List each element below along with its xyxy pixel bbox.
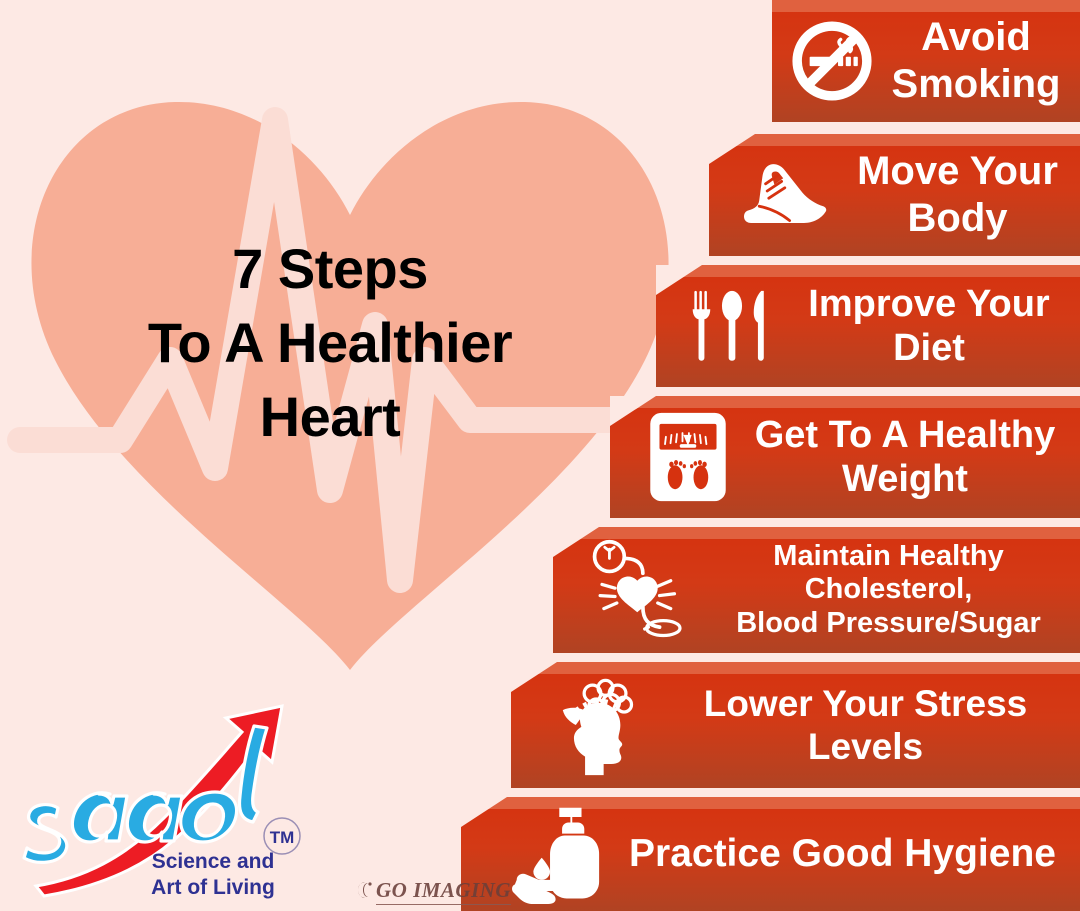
step-item-healthy-weight: Get To A Healthy Weight — [610, 396, 1080, 518]
logo-tagline-line: Art of Living — [118, 875, 308, 901]
step-label-line: Lower Your Stress — [659, 682, 1072, 725]
weighing-scale-icon — [638, 411, 738, 503]
step-label-healthy-weight: Get To A Healthy Weight — [738, 413, 1080, 502]
go-imaging-text: GO IMAGING — [376, 878, 511, 905]
go-imaging-mark-icon — [356, 879, 373, 904]
step-item-improve-your-diet: Improve Your Diet — [656, 265, 1080, 387]
logo-tagline-line: Science and — [118, 849, 308, 875]
blood-pressure-heart-icon — [577, 538, 705, 642]
step-tread — [772, 0, 1080, 12]
step-tread — [610, 396, 1080, 408]
step-label-line: Move Your — [843, 148, 1072, 195]
step-label-cholesterol-bp-sugar: Maintain Healthy Cholesterol, Blood Pres… — [705, 540, 1080, 639]
step-label-avoid-smoking: Avoid Smoking — [880, 14, 1080, 108]
step-label-line: Get To A Healthy — [738, 413, 1072, 457]
logo-tagline: Science and Art of Living — [118, 849, 308, 900]
step-label-line: Diet — [786, 326, 1072, 370]
step-label-line: Body — [843, 195, 1072, 242]
step-label-line: Blood Pressure/Sugar — [705, 607, 1072, 640]
svg-text:TM: TM — [270, 828, 295, 847]
step-label-line: Avoid — [880, 14, 1072, 61]
no-smoking-icon — [784, 18, 880, 104]
step-label-line: Weight — [738, 457, 1072, 501]
stressed-head-icon — [539, 673, 659, 777]
infographic-poster: 7 Steps To A Healthier Heart — [0, 0, 1080, 911]
step-label-line: Maintain Healthy — [705, 540, 1072, 573]
step-tread — [709, 134, 1080, 146]
step-item-lower-stress: Lower Your Stress Levels — [511, 662, 1080, 788]
step-item-avoid-smoking: Avoid Smoking — [772, 0, 1080, 122]
step-label-improve-your-diet: Improve Your Diet — [786, 282, 1080, 371]
go-imaging-watermark: GO IMAGING — [356, 878, 511, 905]
hand-wash-soap-icon — [507, 804, 619, 904]
step-label-line: Practice Good Hygiene — [629, 831, 1072, 877]
step-item-move-your-body: Move Your Body — [709, 134, 1080, 256]
step-label-line: Cholesterol, — [705, 573, 1072, 606]
cutlery-icon — [678, 284, 786, 368]
step-item-practice-good-hygiene: Practice Good Hygiene — [461, 797, 1080, 911]
step-label-move-your-body: Move Your Body — [843, 148, 1080, 242]
step-tread — [656, 265, 1080, 277]
step-label-line: Smoking — [880, 61, 1072, 108]
step-label-line: Levels — [659, 725, 1072, 768]
step-label-lower-stress: Lower Your Stress Levels — [659, 682, 1080, 769]
step-label-practice-good-hygiene: Practice Good Hygiene — [619, 831, 1080, 877]
step-label-line: Improve Your — [786, 282, 1072, 326]
running-shoe-icon — [733, 156, 843, 234]
step-item-cholesterol-bp-sugar: Maintain Healthy Cholesterol, Blood Pres… — [553, 527, 1080, 653]
step-bevel — [461, 797, 507, 827]
